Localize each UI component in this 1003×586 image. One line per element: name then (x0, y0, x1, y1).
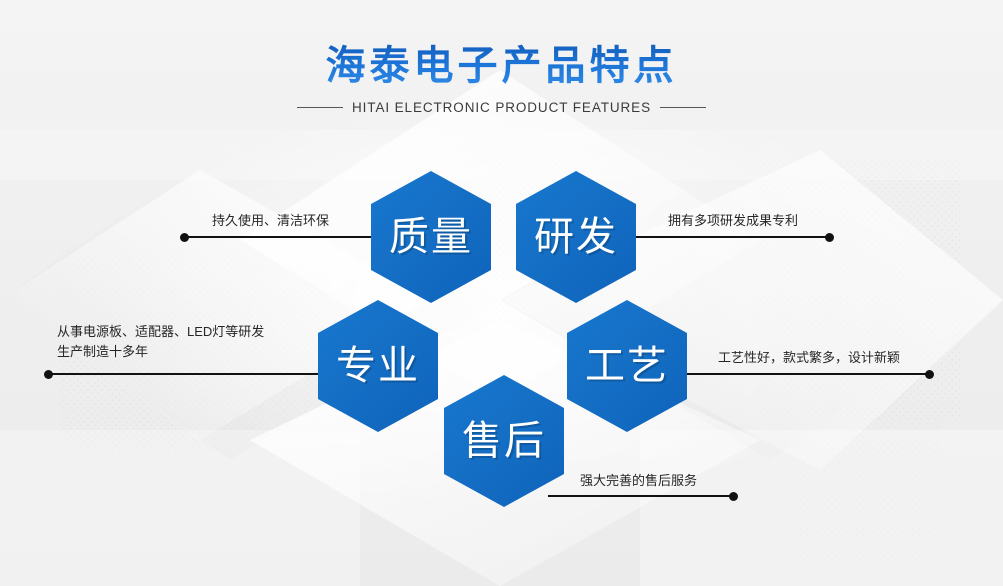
hexagon-rnd-label: 研发 (534, 217, 618, 257)
hexagon-aftersales[interactable]: 售后 (444, 375, 564, 507)
connector-line-craft (672, 373, 930, 375)
page-title: 海泰电子产品特点 (0, 0, 1003, 88)
hexagon-craft-label: 工艺 (585, 346, 669, 386)
subtitle-rule-right (660, 107, 706, 108)
subtitle-rule-left (297, 107, 343, 108)
page-subtitle: HITAI ELECTRONIC PRODUCT FEATURES (352, 100, 651, 115)
hexagon-craft[interactable]: 工艺 (567, 300, 687, 432)
connector-dot-rnd (825, 233, 834, 242)
infographic-canvas: 海泰电子产品特点 HITAI ELECTRONIC PRODUCT FEATUR… (0, 0, 1003, 586)
hexagon-aftersales-label: 售后 (462, 421, 546, 461)
connector-line-professional (48, 373, 334, 375)
connector-line-rnd (622, 236, 830, 238)
connector-line-quality (184, 236, 382, 238)
note-professional-line2: 生产制造十多年 (57, 342, 148, 362)
note-rnd: 拥有多项研发成果专利 (668, 211, 798, 231)
connector-dot-aftersales (729, 492, 738, 501)
note-aftersales: 强大完善的售后服务 (580, 471, 697, 491)
background-dot-texture-right (760, 160, 960, 420)
note-professional-line1: 从事电源板、适配器、LED灯等研发 (57, 322, 264, 342)
hexagon-professional-label: 专业 (336, 346, 420, 386)
background-dot-texture-bottom-right (790, 420, 940, 560)
connector-dot-craft (925, 370, 934, 379)
hexagon-quality[interactable]: 质量 (371, 171, 491, 303)
note-quality: 持久使用、清洁环保 (212, 211, 329, 231)
connector-line-aftersales (548, 495, 734, 497)
subtitle-row: HITAI ELECTRONIC PRODUCT FEATURES (0, 100, 1003, 115)
hexagon-professional[interactable]: 专业 (318, 300, 438, 432)
page-header: 海泰电子产品特点 HITAI ELECTRONIC PRODUCT FEATUR… (0, 0, 1003, 115)
hexagon-rnd[interactable]: 研发 (516, 171, 636, 303)
hexagon-quality-label: 质量 (389, 217, 473, 257)
note-craft: 工艺性好，款式繁多，设计新颖 (718, 348, 900, 368)
